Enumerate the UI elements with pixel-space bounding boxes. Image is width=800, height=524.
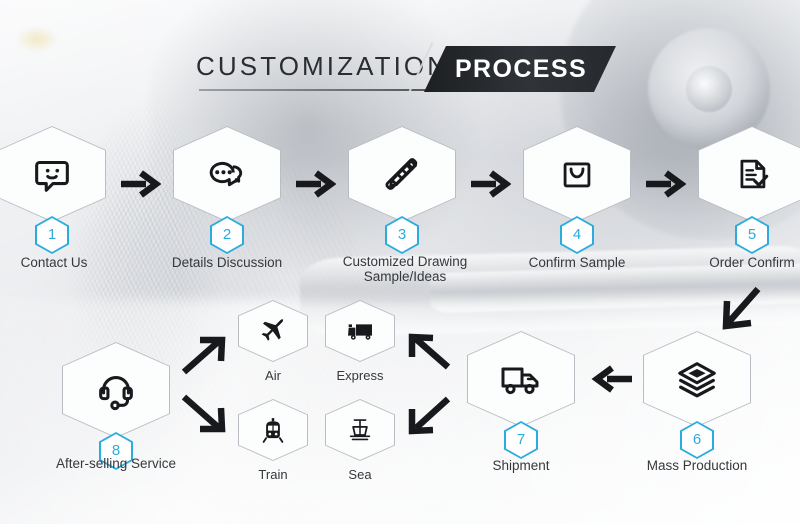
shipping-air-label: Air [238, 368, 308, 383]
step-5-label: Order Confirm [688, 255, 800, 270]
shipping-train-hexagon[interactable] [238, 399, 308, 461]
step-6-number-badge: 6 [680, 421, 714, 459]
step-6-hexagon[interactable] [643, 331, 751, 427]
chat-smiley-icon [29, 151, 75, 197]
shipping-express-label: Express [317, 368, 403, 383]
hexagon-face [326, 400, 394, 460]
layers-stack-icon [674, 356, 720, 402]
arrow-step5-to-step6 [712, 283, 768, 335]
step-5-hexagon[interactable] [698, 126, 800, 222]
header-title-left: CUSTOMIZATION [196, 44, 449, 88]
hexagon-face [239, 301, 307, 361]
arrow-step7-to-sea [404, 393, 456, 437]
step-6-label: Mass Production [633, 458, 761, 473]
express-truck-icon [344, 315, 376, 347]
step-1-number-badge: 1 [35, 216, 69, 254]
arrow-train-to-step8 [178, 391, 230, 435]
step-4-hexagon[interactable] [523, 126, 631, 222]
shipping-sea-label: Sea [325, 467, 395, 482]
headset-icon [93, 367, 139, 413]
step-7-number-badge: 7 [504, 421, 538, 459]
step-2-hexagon[interactable] [173, 126, 281, 222]
step-5-number-badge: 5 [735, 216, 769, 254]
arrow-step7-to-express [404, 331, 456, 375]
hexagon-face [174, 127, 280, 221]
hexagon-face [63, 343, 169, 437]
ship-icon [345, 415, 375, 445]
arrow-step6-to-step7 [590, 363, 634, 395]
hexagon-face [644, 332, 750, 426]
arrow-step2-to-step3 [294, 168, 336, 200]
hexagon-face [524, 127, 630, 221]
step-3-hexagon[interactable] [348, 126, 456, 222]
step-1-hexagon[interactable] [0, 126, 106, 222]
hexagon-face [468, 332, 574, 426]
step-2-number-badge: 2 [210, 216, 244, 254]
header-banner: CUSTOMIZATION PROCESS [196, 44, 616, 96]
step-4-number-badge: 4 [560, 216, 594, 254]
arrow-step1-to-step2 [119, 168, 161, 200]
airplane-icon [258, 316, 288, 346]
arrow-step3-to-step4 [469, 168, 511, 200]
shopping-bag-icon [555, 152, 599, 196]
shipping-express-hexagon[interactable] [325, 300, 395, 362]
header-underline [199, 89, 429, 91]
pencil-ruler-icon [379, 151, 425, 197]
delivery-truck-icon [497, 355, 545, 403]
arrow-air-to-step8 [178, 334, 230, 378]
step-2-label: Details Discussion [163, 255, 291, 270]
step-1-label: Contact Us [0, 255, 118, 270]
step-3-label: Customized Drawing Sample/Ideas [330, 254, 480, 284]
hexagon-face [326, 301, 394, 361]
step-4-label: Confirm Sample [513, 255, 641, 270]
document-check-icon [730, 152, 774, 196]
step-7-hexagon[interactable] [467, 331, 575, 427]
infographic-canvas: CUSTOMIZATION PROCESS 1 Contact Us [0, 0, 800, 524]
arrow-step4-to-step5 [644, 168, 686, 200]
step-8-hexagon[interactable] [62, 342, 170, 438]
train-icon [258, 415, 288, 445]
hexagon-face [349, 127, 455, 221]
shipping-train-label: Train [238, 467, 308, 482]
speech-bubbles-icon [204, 151, 250, 197]
header-title-right: PROCESS [424, 46, 616, 92]
shipping-air-hexagon[interactable] [238, 300, 308, 362]
step-3-number-badge: 3 [385, 216, 419, 254]
step-8-label: After-selling Service [46, 456, 186, 471]
shipping-sea-hexagon[interactable] [325, 399, 395, 461]
step-7-label: Shipment [457, 458, 585, 473]
hexagon-face [239, 400, 307, 460]
hexagon-face [0, 127, 105, 221]
